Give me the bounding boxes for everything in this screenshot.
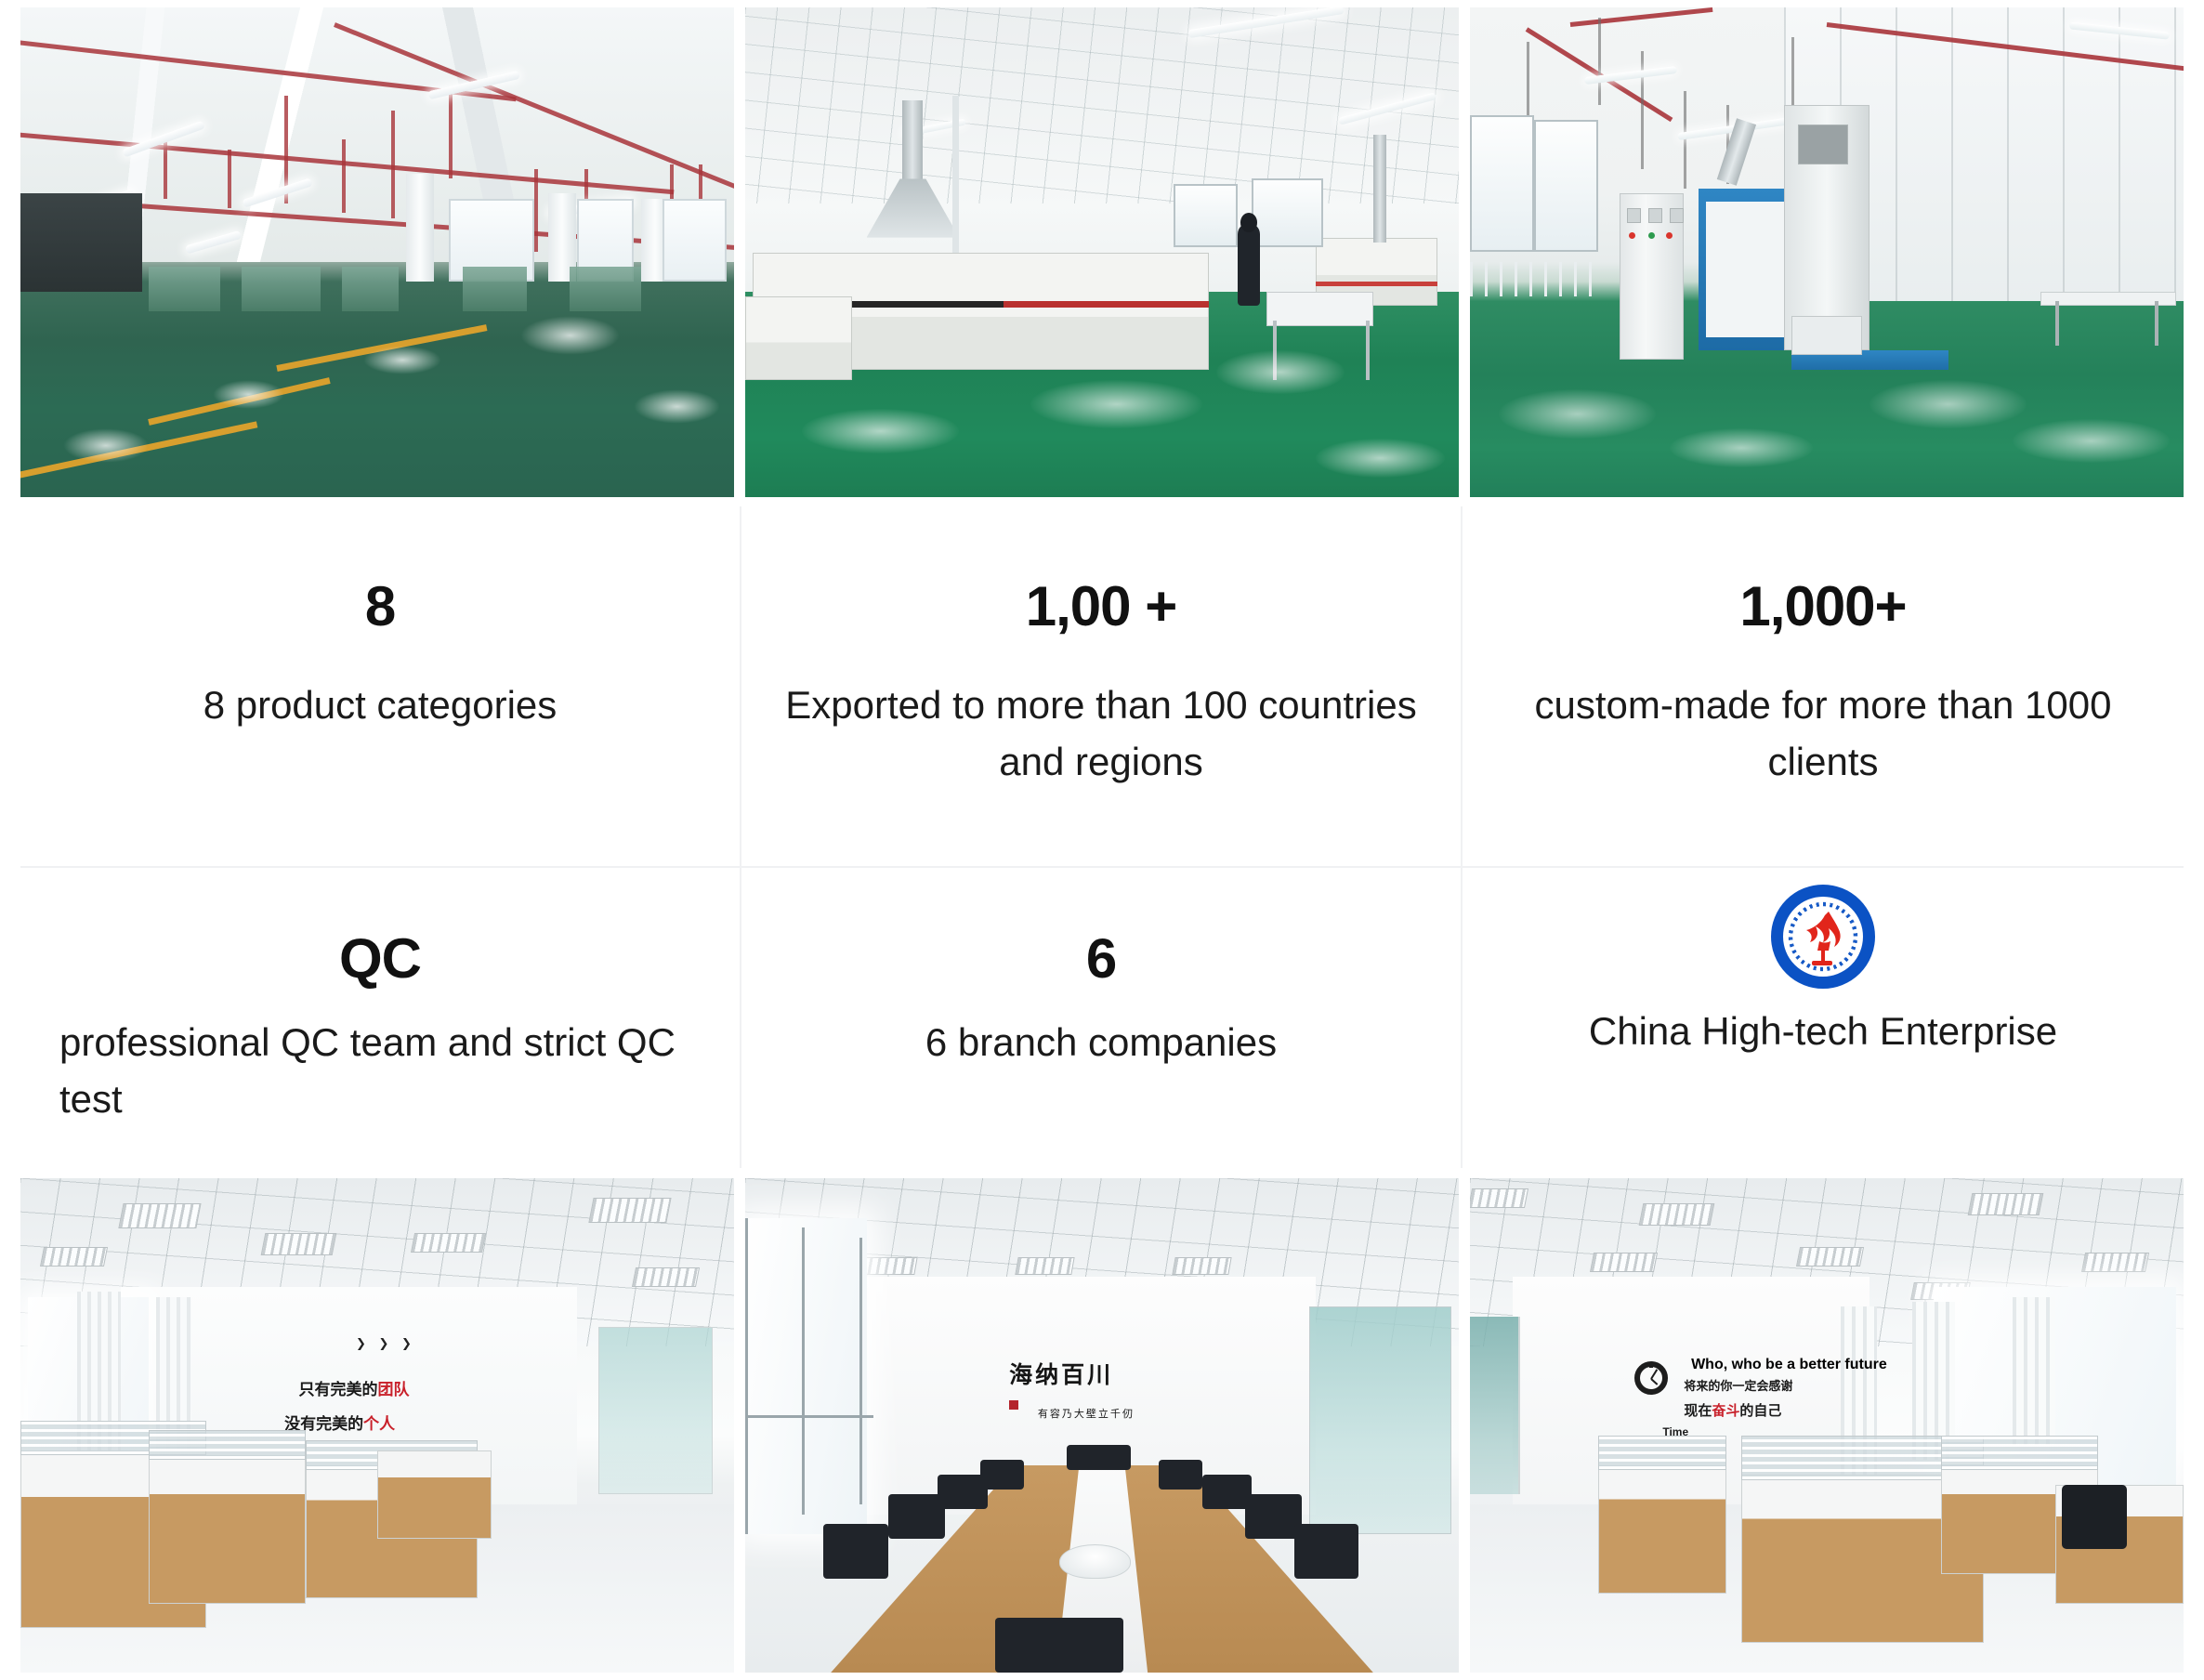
stat-cell-quality-control: QC professional QC team and strict QC te… — [20, 868, 741, 1168]
meeting-wall-subline: 有容乃大壁立千仞 — [1038, 1406, 1135, 1421]
company-profile-page: 8 8 product categories 1,00 + Exported t… — [0, 0, 2204, 1680]
stat-number: 1,00 + — [1026, 579, 1177, 635]
stat-number: 1,000+ — [1739, 579, 1906, 635]
office-wall-slogan-line1: 只有完美的团队 — [299, 1376, 410, 1399]
stat-cell-export-countries: 1,00 + Exported to more than 100 countri… — [741, 506, 1463, 868]
bottom-photo-row: ❯ ❯ ❯ 只有完美的团队 没有完美的个人 — [20, 1178, 2184, 1673]
production-line-photo[interactable] — [745, 7, 1459, 497]
clock-slogan-line2: 现在奋斗的自己 — [1684, 1400, 1781, 1420]
clock-decal-icon — [1634, 1361, 1668, 1395]
stat-description: China High-tech Enterprise — [1589, 1009, 2057, 1054]
stat-cell-custom-clients: 1,000+ custom-made for more than 1000 cl… — [1463, 506, 2184, 868]
company-stats-grid: 8 8 product categories 1,00 + Exported t… — [20, 506, 2184, 1168]
factory-workshop-photo[interactable] — [20, 7, 734, 497]
china-high-tech-enterprise-logo-icon — [1771, 885, 1875, 989]
stat-cell-branch-companies: 6 6 branch companies — [741, 868, 1463, 1168]
stat-description: custom-made for more than 1000 clients — [1502, 677, 2145, 791]
stat-number: QC — [339, 931, 421, 987]
stat-description: 6 branch companies — [925, 1015, 1277, 1071]
calligraphy-seal-icon — [1009, 1400, 1018, 1410]
open-office-photo[interactable]: ❯ ❯ ❯ 只有完美的团队 没有完美的个人 — [20, 1178, 734, 1673]
stat-description: professional QC team and strict QC test — [59, 1015, 701, 1128]
stat-number: 6 — [1086, 931, 1116, 987]
stat-number: 8 — [365, 579, 395, 635]
stat-cell-product-categories: 8 8 product categories — [20, 506, 741, 868]
stat-cell-high-tech-certificate: China High-tech Enterprise — [1463, 868, 2184, 1168]
top-photo-row — [20, 7, 2184, 497]
meeting-room-photo[interactable]: 海纳百川 有容乃大壁立千仞 — [745, 1178, 1459, 1673]
meeting-wall-calligraphy: 海纳百川 — [1009, 1357, 1113, 1390]
clock-slogan-line1: 将来的你一定会感谢 — [1684, 1376, 1792, 1394]
clock-slogan-english: Who, who be a better future — [1691, 1357, 1887, 1373]
equipment-room-photo[interactable] — [1470, 7, 2184, 497]
torch-flame-icon — [1797, 910, 1849, 967]
stat-description: 8 product categories — [203, 677, 558, 734]
workstation-office-photo[interactable]: Who, who be a better future 将来的你一定会感谢 现在… — [1470, 1178, 2184, 1673]
bird-decals-icon: ❯ ❯ ❯ — [356, 1336, 416, 1351]
stat-description: Exported to more than 100 countries and … — [781, 677, 1422, 791]
